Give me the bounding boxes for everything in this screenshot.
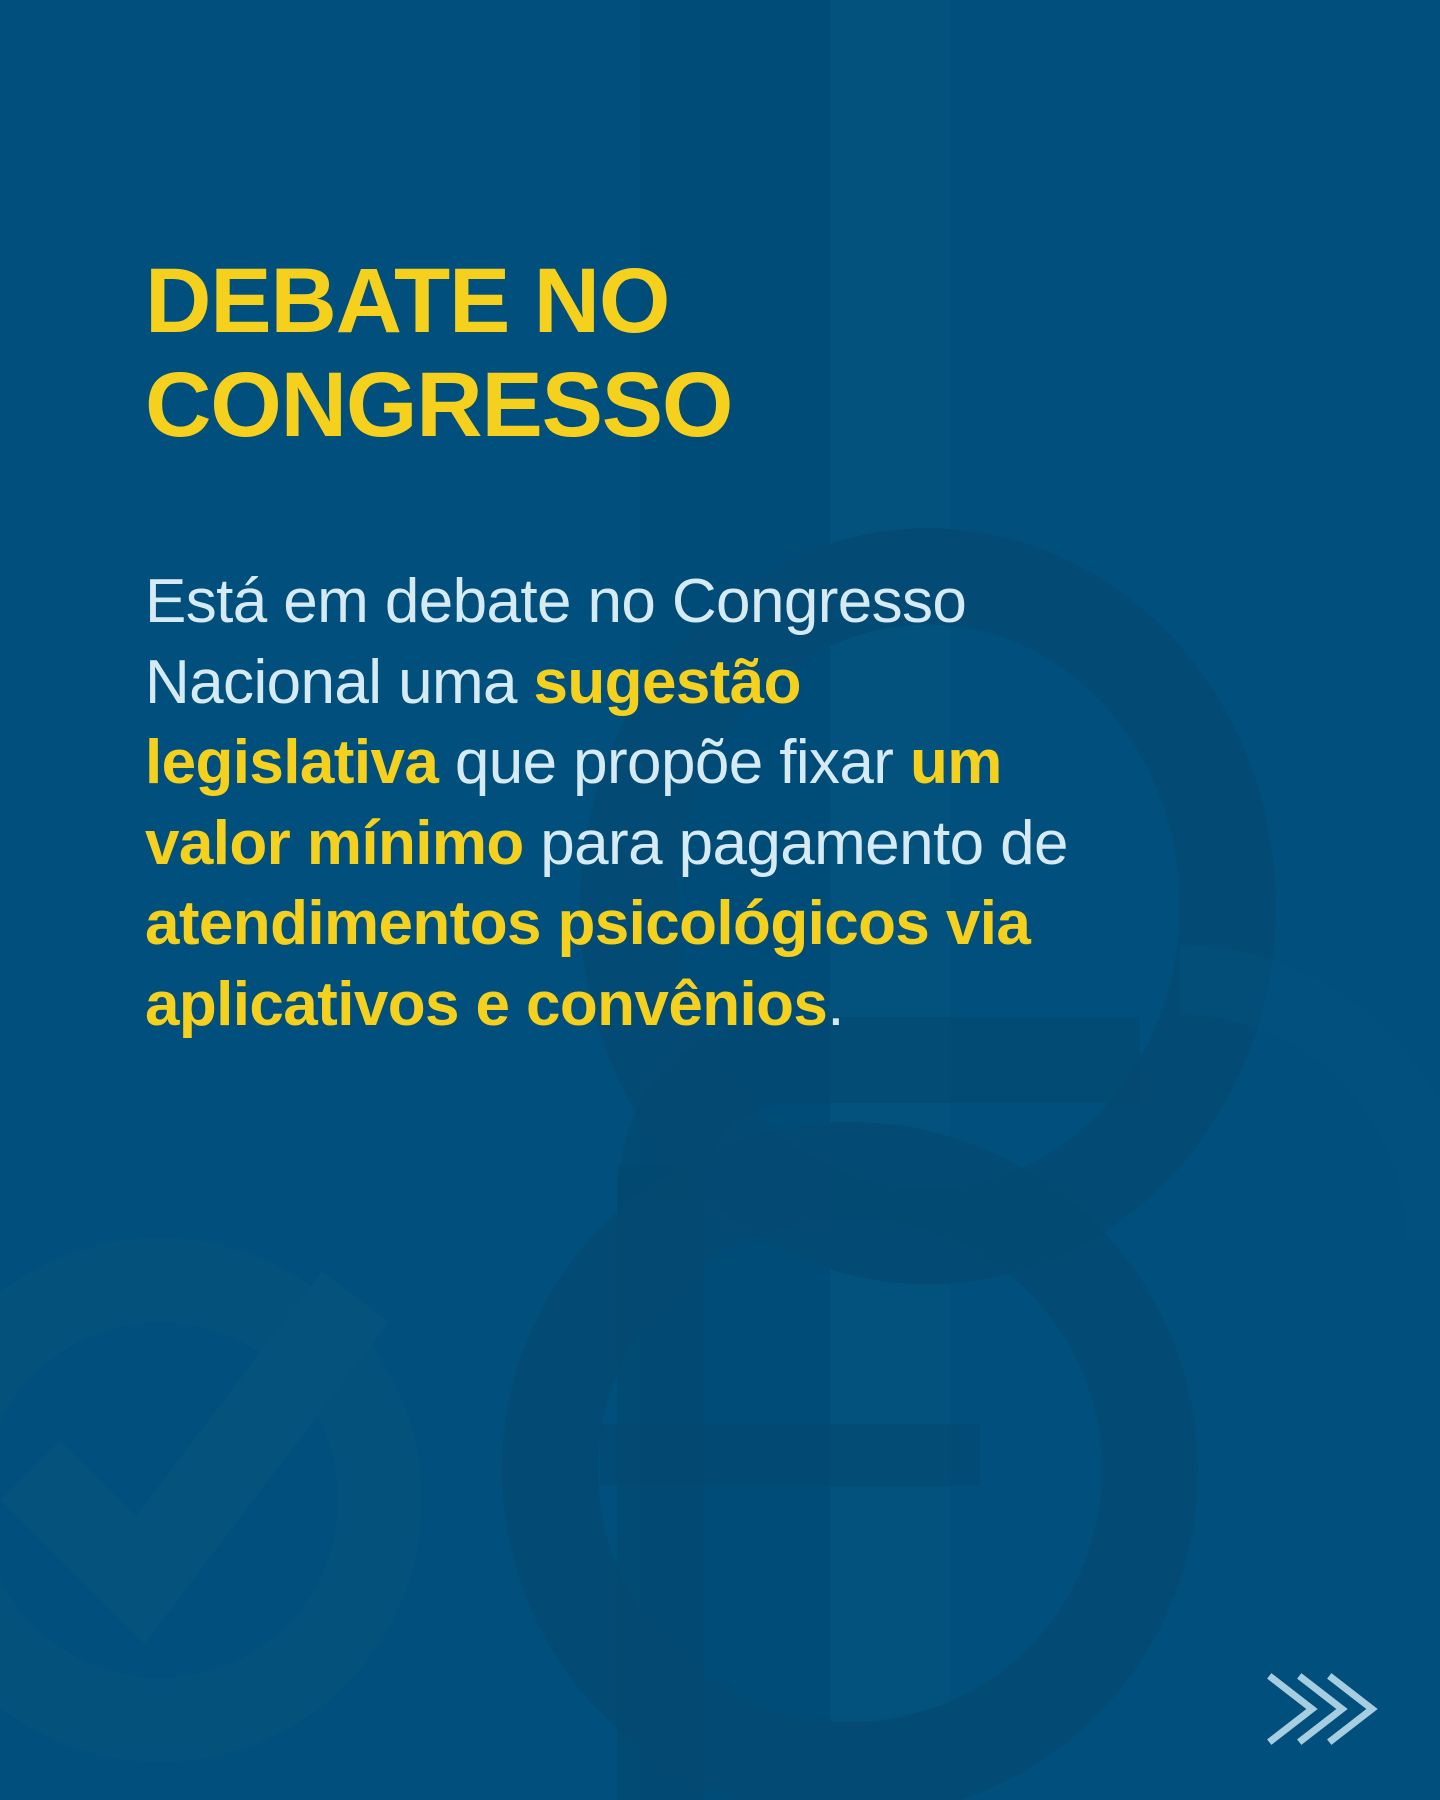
social-post-slide: DEBATE NO CONGRESSO Está em debate no Co… <box>0 0 1440 1800</box>
body-segment-2: que propõe fixar <box>438 728 910 797</box>
page-title: DEBATE NO CONGRESSO <box>145 250 1105 458</box>
body-paragraph: Está em debate no Congresso Nacional uma… <box>145 458 1105 1046</box>
slide-content: DEBATE NO CONGRESSO Está em debate no Co… <box>0 0 1105 1045</box>
body-segment-5-highlight: atendimentos psicológicos via aplicativo… <box>145 889 1030 1039</box>
body-segment-6: . <box>827 970 844 1039</box>
next-slide-button[interactable] <box>1262 1666 1382 1752</box>
double-chevron-right-icon[interactable] <box>1262 1666 1382 1752</box>
body-segment-4: para pagamento de <box>524 809 1068 878</box>
